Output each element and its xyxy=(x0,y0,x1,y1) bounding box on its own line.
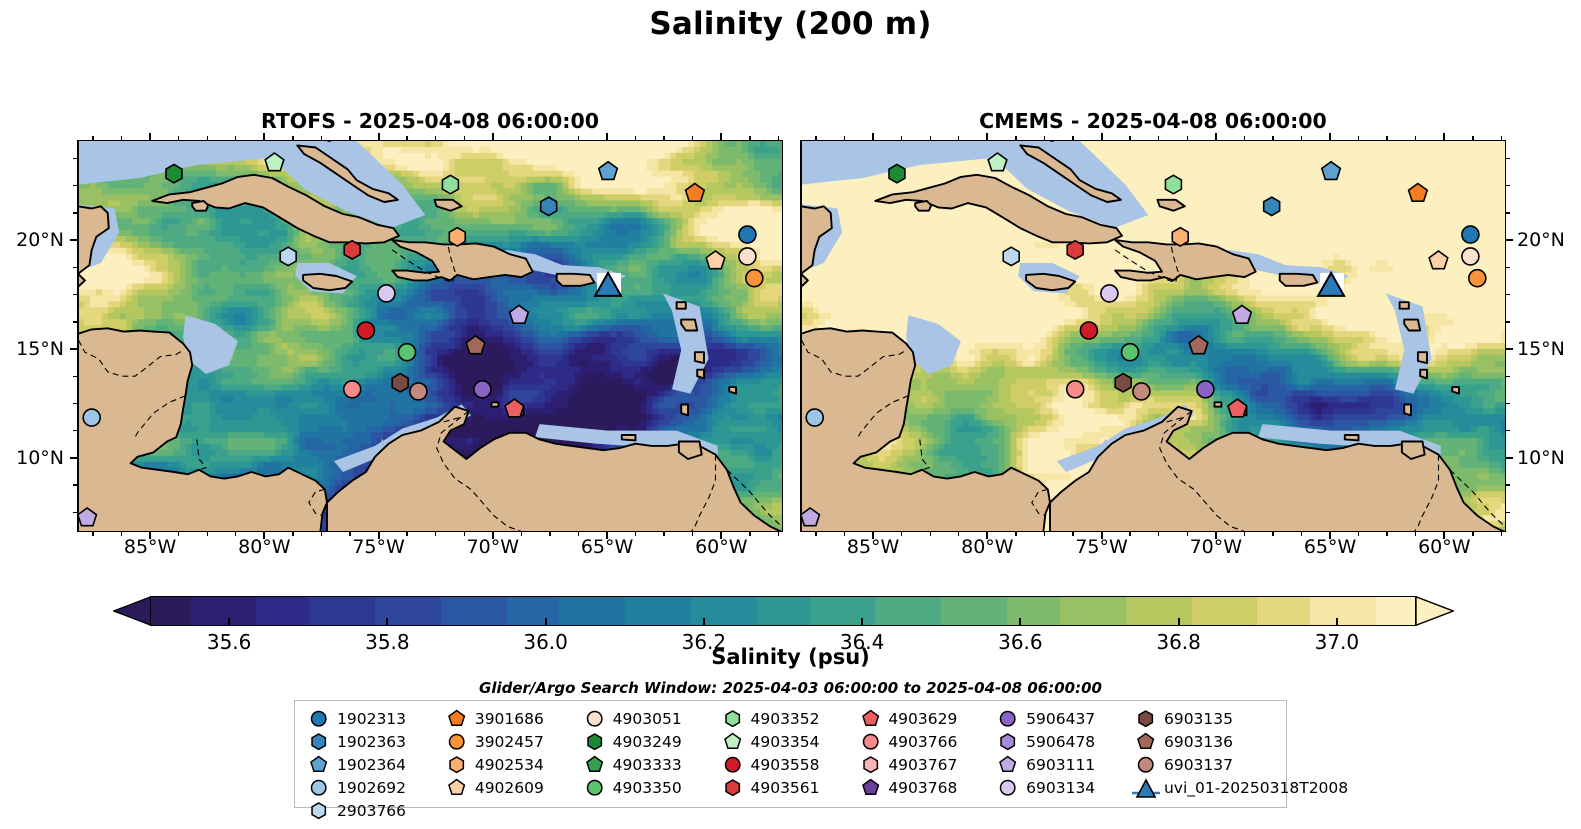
map-marker xyxy=(1003,247,1019,265)
xtick-minor xyxy=(663,532,664,536)
xtick-minor-top xyxy=(663,136,664,140)
map-panel-rtofs: RTOFS - 2025-04-08 06:00:00 xyxy=(77,140,783,532)
xtick-minor-top xyxy=(1015,136,1016,140)
xtick-minor-top xyxy=(1244,136,1245,140)
xtick-label: 65°W xyxy=(581,536,633,558)
panel-title-cmems: CMEMS - 2025-04-08 06:00:00 xyxy=(800,109,1506,133)
colorbar-swatch xyxy=(1007,597,1020,625)
map-marker xyxy=(889,164,905,182)
legend-item[interactable]: 6903137 xyxy=(1131,753,1279,776)
xtick-minor xyxy=(549,532,550,536)
legend-marker-pentagon-icon xyxy=(442,778,472,797)
legend-marker-circle-icon xyxy=(993,778,1023,797)
legend-item[interactable]: 1902363 xyxy=(304,730,442,753)
legend-marker-hexagon-icon xyxy=(580,732,610,751)
colorbar: 35.635.836.036.236.436.636.837.0 xyxy=(113,596,1453,626)
legend-item[interactable]: 4903561 xyxy=(717,776,855,799)
colorbar-swatch xyxy=(1284,597,1297,625)
legend-marker-pentagon-icon xyxy=(442,709,472,728)
colorbar-swatch xyxy=(717,597,730,625)
legend-item-label: 1902692 xyxy=(334,779,406,797)
legend-item[interactable]: 4903558 xyxy=(717,753,855,776)
xtick-minor-top xyxy=(578,136,579,140)
map-marker xyxy=(1264,197,1280,215)
xtick-major-top xyxy=(492,133,494,140)
xtick-minor-top xyxy=(1158,136,1159,140)
xtick-minor-top xyxy=(435,136,436,140)
legend-item[interactable]: 5906437 xyxy=(993,707,1131,730)
ytick-minor xyxy=(73,321,77,322)
colorbar-swatch xyxy=(507,597,520,625)
legend-item[interactable]: 4903767 xyxy=(855,753,993,776)
colorbar-tick xyxy=(386,618,388,626)
legend-item[interactable]: 4902609 xyxy=(442,776,580,799)
colorbar-swatch xyxy=(704,597,717,625)
ytick-major xyxy=(70,239,77,241)
xtick-minor xyxy=(1358,532,1359,536)
panel-title-rtofs: RTOFS - 2025-04-08 06:00:00 xyxy=(77,109,783,133)
xtick-major-top xyxy=(606,133,608,140)
colorbar-swatch xyxy=(612,597,625,625)
legend-item[interactable]: 1902313 xyxy=(304,707,442,730)
xtick-minor-top xyxy=(749,136,750,140)
ytick-minor xyxy=(1506,403,1510,404)
legend-item-label: 1902364 xyxy=(334,756,406,774)
legend-marker-pentagon-icon xyxy=(1131,732,1161,751)
map-marker xyxy=(1101,285,1118,302)
map-marker xyxy=(410,383,427,400)
legend-item-label: 1902363 xyxy=(334,733,406,751)
legend-item-label: 4903333 xyxy=(610,756,682,774)
legend-item-label: 5906478 xyxy=(1023,733,1095,751)
xtick-label: 70°W xyxy=(1190,536,1242,558)
legend-item[interactable]: uvi_01-20250318T2008 xyxy=(1131,776,1279,799)
xtick-minor xyxy=(1187,532,1188,536)
ytick-minor xyxy=(1506,185,1510,186)
legend-item-label: 6903111 xyxy=(1023,756,1095,774)
colorbar-swatch xyxy=(968,597,981,625)
colorbar-swatch xyxy=(915,597,928,625)
xtick-minor-top xyxy=(321,136,322,140)
colorbar-swatch xyxy=(1297,597,1310,625)
ytick-label: 20°N xyxy=(7,229,64,251)
xtick-minor xyxy=(1386,532,1387,536)
colorbar-tick xyxy=(703,618,705,626)
xtick-label: 80°W xyxy=(238,536,290,558)
colorbar-swatch xyxy=(480,597,493,625)
legend-item-label: 6903137 xyxy=(1161,756,1233,774)
xtick-minor-top xyxy=(635,136,636,140)
ytick-label: 15°N xyxy=(7,338,64,360)
colorbar-swatch xyxy=(783,597,796,625)
colorbar-swatch xyxy=(1113,597,1126,625)
colorbar-tick xyxy=(228,618,230,626)
xtick-minor xyxy=(930,532,931,536)
legend-column: 3901686390245749025344902609 xyxy=(442,707,580,822)
xtick-major-top xyxy=(378,133,380,140)
colorbar-swatch xyxy=(1178,597,1191,625)
xtick-minor-top xyxy=(1301,136,1302,140)
colorbar-swatch xyxy=(599,597,612,625)
colorbar-swatch xyxy=(665,597,678,625)
map-marker xyxy=(1067,381,1084,398)
map-marker xyxy=(1462,248,1479,265)
ytick-minor xyxy=(1506,512,1510,513)
colorbar-swatch xyxy=(1047,597,1060,625)
legend-column: 5906437590647869031116903134 xyxy=(993,707,1131,822)
xtick-minor xyxy=(435,532,436,536)
map-marker-glider xyxy=(595,273,621,296)
map-marker xyxy=(1122,344,1139,361)
colorbar-swatch xyxy=(467,597,480,625)
ytick-minor xyxy=(73,267,77,268)
legend-item-label: 4903766 xyxy=(885,733,957,751)
colorbar-tick xyxy=(545,618,547,626)
colorbar-swatch xyxy=(243,597,256,625)
colorbar-swatch xyxy=(177,597,190,625)
legend-item[interactable]: 2903766 xyxy=(304,799,442,822)
legend-item[interactable]: 6903135 xyxy=(1131,707,1279,730)
map-marker xyxy=(280,247,296,265)
map-marker xyxy=(1172,228,1188,246)
xtick-minor xyxy=(1044,532,1045,536)
colorbar-swatch xyxy=(731,597,744,625)
colorbar-swatch xyxy=(757,597,770,625)
xtick-minor xyxy=(692,532,693,536)
legend-marker-circle-icon xyxy=(717,755,747,774)
xtick-label: 75°W xyxy=(352,536,404,558)
colorbar-swatch xyxy=(994,597,1007,625)
legend-column: 19023131902363190236419026922903766 xyxy=(304,707,442,822)
ytick-label: 10°N xyxy=(7,447,64,469)
legend-item[interactable]: 4903352 xyxy=(717,707,855,730)
legend-item-label: 4903767 xyxy=(885,756,957,774)
glider-triangle-icon xyxy=(1131,777,1161,799)
colorbar-swatch xyxy=(1389,597,1402,625)
ytick-minor xyxy=(73,158,77,159)
xtick-minor-top xyxy=(1386,136,1387,140)
xtick-minor-top xyxy=(1044,136,1045,140)
colorbar-swatch xyxy=(1192,597,1205,625)
colorbar-swatch xyxy=(862,597,875,625)
colorbar-swatch xyxy=(1086,597,1099,625)
colorbar-swatch xyxy=(744,597,757,625)
colorbar-swatch xyxy=(902,597,915,625)
legend-item[interactable]: 4903766 xyxy=(855,730,993,753)
colorbar-max-extend-arrow xyxy=(1416,596,1454,626)
legend-item[interactable]: 4903354 xyxy=(717,730,855,753)
legend-item-label: 4903558 xyxy=(747,756,819,774)
legend-item-label: 5906437 xyxy=(1023,710,1095,728)
xtick-minor-top xyxy=(778,136,779,140)
colorbar-swatch xyxy=(493,597,506,625)
legend-column: 4903352490335449035584903561 xyxy=(717,707,855,822)
xtick-minor-top xyxy=(844,136,845,140)
xtick-minor xyxy=(235,532,236,536)
xtick-label: 70°W xyxy=(467,536,519,558)
xtick-minor xyxy=(92,532,93,536)
xtick-major-top xyxy=(1215,133,1217,140)
colorbar-swatch xyxy=(546,597,559,625)
legend-marker-glider-triangle-icon xyxy=(1131,777,1161,799)
colorbar-swatch xyxy=(1073,597,1086,625)
legend-item[interactable]: 4902534 xyxy=(442,753,580,776)
xtick-minor xyxy=(1301,532,1302,536)
legend-item-label: 4903352 xyxy=(747,710,819,728)
map-marker xyxy=(474,381,491,398)
legend-item[interactable]: 5906478 xyxy=(993,730,1131,753)
colorbar-swatch xyxy=(1271,597,1284,625)
xtick-minor-top xyxy=(121,136,122,140)
xtick-major-top xyxy=(872,133,874,140)
legend-marker-hexagon-icon xyxy=(442,755,472,774)
map-marker xyxy=(1080,322,1097,339)
ytick-label: 20°N xyxy=(1517,229,1565,251)
xtick-minor xyxy=(749,532,750,536)
xtick-label: 75°W xyxy=(1075,536,1127,558)
xtick-minor-top xyxy=(92,136,93,140)
ytick-minor xyxy=(1506,430,1510,431)
xtick-minor xyxy=(1244,532,1245,536)
legend-item-label: uvi_01-20250318T2008 xyxy=(1161,779,1348,797)
map-marker xyxy=(1067,241,1083,259)
legend-marker-circle-icon xyxy=(1131,755,1161,774)
map-panel-cmems: CMEMS - 2025-04-08 06:00:00 xyxy=(800,140,1506,532)
xtick-minor xyxy=(778,532,779,536)
colorbar-swatch xyxy=(441,597,454,625)
legend-marker-pentagon-icon xyxy=(993,755,1023,774)
ytick-minor xyxy=(1506,484,1510,485)
legend-item-label: 6903134 xyxy=(1023,779,1095,797)
legend-marker-hexagon-icon xyxy=(717,709,747,728)
ytick-minor xyxy=(1506,294,1510,295)
colorbar-swatch xyxy=(270,597,283,625)
legend-column: 690313569031366903137uvi_01-20250318T200… xyxy=(1131,707,1279,822)
xtick-major-top xyxy=(986,133,988,140)
xtick-minor xyxy=(1472,532,1473,536)
xtick-minor-top xyxy=(958,136,959,140)
colorbar-swatch xyxy=(1336,597,1349,625)
ytick-label: 15°N xyxy=(1517,338,1565,360)
xtick-minor-top xyxy=(901,136,902,140)
legend-item-label: 2903766 xyxy=(334,802,406,820)
legend-marker-circle-icon xyxy=(442,732,472,751)
colorbar-swatch xyxy=(678,597,691,625)
colorbar-swatch xyxy=(401,597,414,625)
ytick-major xyxy=(1506,457,1513,459)
legend-item-label: 3901686 xyxy=(472,710,544,728)
legend-title: Glider/Argo Search Window: 2025-04-03 06… xyxy=(0,679,1581,697)
colorbar-swatch xyxy=(151,597,164,625)
xtick-label: 85°W xyxy=(124,536,176,558)
ytick-minor xyxy=(73,484,77,485)
legend-item-label: 4903051 xyxy=(610,710,682,728)
legend-item-label: 4903354 xyxy=(747,733,819,751)
xtick-minor-top xyxy=(207,136,208,140)
legend-item[interactable]: 4903629 xyxy=(855,707,993,730)
xtick-minor-top xyxy=(1129,136,1130,140)
legend-marker-hexagon-icon xyxy=(304,732,334,751)
xtick-minor-top xyxy=(1358,136,1359,140)
legend-item-label: 3902457 xyxy=(472,733,544,751)
legend-item[interactable]: 6903136 xyxy=(1131,730,1279,753)
legend-item[interactable]: 1902692 xyxy=(304,776,442,799)
xtick-minor xyxy=(1158,532,1159,536)
colorbar-tick xyxy=(1019,618,1021,626)
xtick-minor xyxy=(1501,532,1502,536)
map-axes-rtofs[interactable] xyxy=(77,140,783,532)
legend-marker-hexagon-icon xyxy=(993,732,1023,751)
legend-marker-hexagon-icon xyxy=(1131,709,1161,728)
xtick-minor-top xyxy=(1272,136,1273,140)
xtick-minor-top xyxy=(521,136,522,140)
colorbar-swatch xyxy=(1350,597,1363,625)
legend-marker-circle-icon xyxy=(855,732,885,751)
xtick-major-top xyxy=(149,133,151,140)
legend-marker-circle-icon xyxy=(580,709,610,728)
map-marker xyxy=(344,381,361,398)
colorbar-swatch xyxy=(296,597,309,625)
colorbar-swatch xyxy=(1257,597,1270,625)
legend-item[interactable]: 4903350 xyxy=(580,776,718,799)
colorbar-tick xyxy=(1178,618,1180,626)
map-marker xyxy=(442,175,458,193)
colorbar-swatch xyxy=(981,597,994,625)
colorbar-swatch xyxy=(1152,597,1165,625)
colorbar-swatch xyxy=(428,597,441,625)
ytick-minor xyxy=(1506,158,1510,159)
legend-marker-pentagon-icon xyxy=(855,778,885,797)
colorbar-swatch xyxy=(349,597,362,625)
legend-marker-circle-icon xyxy=(993,709,1023,728)
map-marker xyxy=(344,241,360,259)
colorbar-swatch xyxy=(652,597,665,625)
xtick-minor xyxy=(349,532,350,536)
legend-item[interactable]: 3902457 xyxy=(442,730,580,753)
ytick-minor xyxy=(73,512,77,513)
xtick-minor-top xyxy=(178,136,179,140)
colorbar-swatch xyxy=(796,597,809,625)
colorbar-swatch xyxy=(810,597,823,625)
map-marker xyxy=(357,322,374,339)
xtick-minor xyxy=(121,532,122,536)
colorbar-title: Salinity (psu) xyxy=(0,645,1581,669)
colorbar-swatch xyxy=(559,597,572,625)
colorbar-swatch xyxy=(1034,597,1047,625)
legend-item-label: 4903768 xyxy=(885,779,957,797)
colorbar-swatch xyxy=(1020,597,1033,625)
legend-item-label: 4903249 xyxy=(610,733,682,751)
legend-item-label: 4902609 xyxy=(472,779,544,797)
map-marker xyxy=(1462,226,1479,243)
colorbar-swatch xyxy=(928,597,941,625)
ytick-major xyxy=(70,348,77,350)
xtick-minor-top xyxy=(349,136,350,140)
map-axes-cmems[interactable] xyxy=(800,140,1506,532)
ytick-minor xyxy=(1506,321,1510,322)
legend-marker-circle-icon xyxy=(304,778,334,797)
xtick-minor xyxy=(958,532,959,536)
colorbar-swatch xyxy=(889,597,902,625)
legend-marker-hexagon-icon xyxy=(304,801,334,820)
legend-item-label: 6903136 xyxy=(1161,733,1233,751)
colorbar-swatch xyxy=(1218,597,1231,625)
colorbar-gradient xyxy=(150,596,1416,626)
legend-box[interactable]: 1902313190236319023641902692290376639016… xyxy=(294,700,1287,808)
xtick-minor-top xyxy=(692,136,693,140)
colorbar-swatch xyxy=(230,597,243,625)
legend-item[interactable]: 4903768 xyxy=(855,776,993,799)
legend-item[interactable]: 4903333 xyxy=(580,753,718,776)
colorbar-swatch xyxy=(309,597,322,625)
xtick-major-top xyxy=(1329,133,1331,140)
xtick-major-top xyxy=(263,133,265,140)
colorbar-swatch xyxy=(836,597,849,625)
xtick-minor xyxy=(464,532,465,536)
colorbar-swatch xyxy=(454,597,467,625)
xtick-major-top xyxy=(720,133,722,140)
legend-item[interactable]: 3901686 xyxy=(442,707,580,730)
colorbar-swatch xyxy=(1060,597,1073,625)
map-marker xyxy=(806,409,823,426)
ytick-minor xyxy=(1506,212,1510,213)
map-marker xyxy=(378,285,395,302)
colorbar-tick xyxy=(1336,618,1338,626)
legend-item[interactable]: 4903249 xyxy=(580,730,718,753)
ytick-minor xyxy=(73,403,77,404)
ytick-minor xyxy=(73,376,77,377)
map-marker xyxy=(1133,383,1150,400)
colorbar-swatch xyxy=(770,597,783,625)
map-marker xyxy=(1165,175,1181,193)
map-marker xyxy=(739,226,756,243)
map-marker xyxy=(83,409,100,426)
colorbar-swatch xyxy=(256,597,269,625)
colorbar-swatch xyxy=(1323,597,1336,625)
colorbar-min-extend-arrow xyxy=(113,596,151,626)
xtick-minor-top xyxy=(1501,136,1502,140)
colorbar-swatch xyxy=(191,597,204,625)
xtick-label: 60°W xyxy=(695,536,747,558)
colorbar-swatch xyxy=(414,597,427,625)
xtick-minor xyxy=(207,532,208,536)
map-marker-glider xyxy=(1318,273,1344,296)
xtick-minor-top xyxy=(464,136,465,140)
figure-root: Salinity (200 m) RTOFS - 2025-04-08 06:0… xyxy=(0,0,1581,829)
xtick-minor-top xyxy=(1187,136,1188,140)
ytick-minor xyxy=(1506,376,1510,377)
xtick-minor xyxy=(1272,532,1273,536)
map-marker xyxy=(1115,374,1131,392)
legend-marker-pentagon-icon xyxy=(580,755,610,774)
xtick-minor-top xyxy=(292,136,293,140)
legend-item-label: 1902313 xyxy=(334,710,406,728)
legend-item[interactable]: 4903051 xyxy=(580,707,718,730)
xtick-minor-top xyxy=(549,136,550,140)
ytick-major xyxy=(1506,348,1513,350)
colorbar-swatch xyxy=(1310,597,1323,625)
xtick-minor xyxy=(406,532,407,536)
map-marker xyxy=(399,344,416,361)
ytick-minor xyxy=(73,430,77,431)
xtick-minor xyxy=(815,532,816,536)
legend-item[interactable]: 1902364 xyxy=(304,753,442,776)
xtick-minor xyxy=(1072,532,1073,536)
legend-item-label: 6903135 xyxy=(1161,710,1233,728)
legend-item[interactable]: 6903111 xyxy=(993,753,1131,776)
legend-marker-pentagon-icon xyxy=(855,709,885,728)
legend-item[interactable]: 6903134 xyxy=(993,776,1131,799)
